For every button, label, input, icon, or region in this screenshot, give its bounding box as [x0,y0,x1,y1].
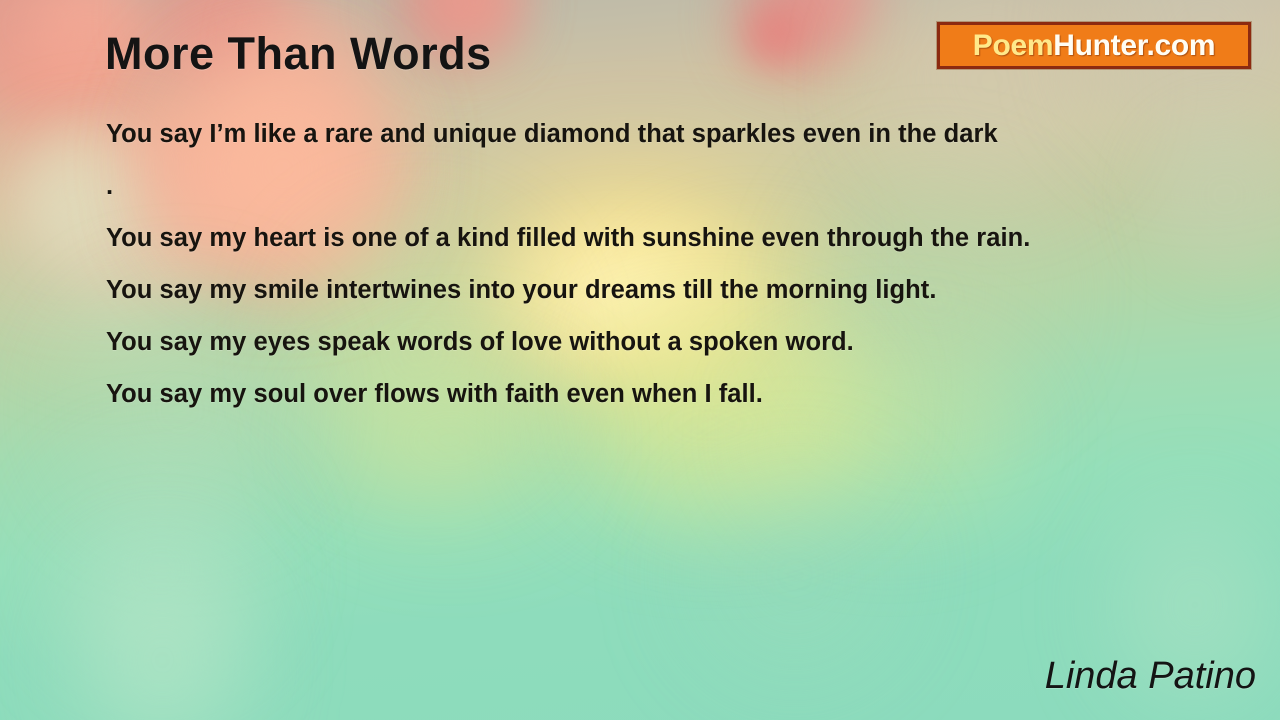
bokeh-circle [790,0,885,40]
poem-line: You say my soul over flows with faith ev… [106,368,1236,420]
bokeh-circle [80,560,245,720]
poem-line: . [106,160,1236,212]
poem-line: You say I’m like a rare and unique diamo… [106,108,1236,160]
poem-line: You say my smile intertwines into your d… [106,264,1236,316]
bokeh-circle [735,0,850,75]
poem-body: You say I’m like a rare and unique diamo… [106,108,1236,420]
bokeh-circle [745,10,800,65]
bokeh-circle [690,470,900,680]
poem-line: You say my heart is one of a kind filled… [106,212,1236,264]
poemhunter-logo-badge[interactable]: PoemHunter.com [937,22,1251,69]
logo-text-poem: Poem [973,29,1054,62]
poem-title: More Than Words [105,28,492,80]
poem-card: PoemHunter.com More Than Words You say I… [0,0,1280,720]
bokeh-circle [60,470,260,670]
logo-text-hunter: Hunter.com [1053,29,1215,62]
poem-author: Linda Patino [1045,655,1256,698]
poemhunter-logo-text: PoemHunter.com [973,29,1216,63]
poem-line: You say my eyes speak words of love with… [106,316,1236,368]
